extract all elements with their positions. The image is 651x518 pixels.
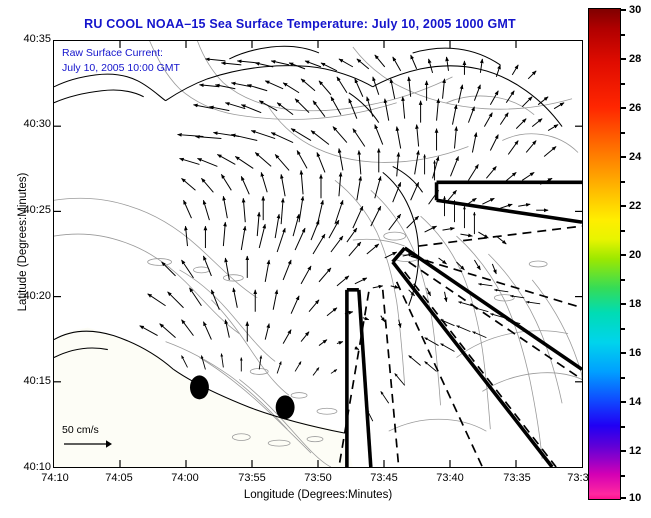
surface-current-vectors <box>140 55 564 421</box>
vector-scale-label: 50 cm/s <box>62 424 114 436</box>
cbar-tick-12: 12 <box>621 445 641 457</box>
map-plot-area[interactable]: Raw Surface Current: July 10, 2005 10:00… <box>53 40 583 468</box>
y-axis-label: Latitude (Degrees:Minutes) <box>17 157 29 327</box>
cbar-minor-tick <box>621 34 625 36</box>
cbar-tick-10: 10 <box>621 492 641 504</box>
annotation-line-2: July 10, 2005 10:00 GMT <box>62 61 180 76</box>
ytick-0: 40:35 <box>3 33 51 45</box>
xtick-5: 73:45 <box>370 472 398 484</box>
colorbar-gradient <box>589 9 620 499</box>
cbar-tick-28: 28 <box>621 53 641 65</box>
cbar-tick-18: 18 <box>621 298 641 310</box>
x-axis-label: Longitude (Degrees:Minutes) <box>53 489 583 501</box>
xtick-4: 73:50 <box>304 472 332 484</box>
cbar-tick-24: 24 <box>621 151 641 163</box>
cbar-minor-tick <box>621 279 625 281</box>
cbar-minor-tick <box>621 181 625 183</box>
xtick-7: 73:35 <box>503 472 531 484</box>
raw-surface-current-annotation: Raw Surface Current: July 10, 2005 10:00… <box>62 46 180 76</box>
cbar-minor-tick <box>621 328 625 330</box>
vector-scale-legend: 50 cm/s <box>62 424 114 453</box>
right-arrow-icon <box>62 438 114 450</box>
cbar-minor-tick <box>621 426 625 428</box>
xtick-2: 74:00 <box>171 472 199 484</box>
xtick-8: 73:3 <box>567 472 588 484</box>
ytick-4: 40:15 <box>3 375 51 387</box>
map-canvas <box>54 41 582 467</box>
sst-current-figure: RU COOL NOAA–15 Sea Surface Temperature:… <box>0 0 651 518</box>
annotation-line-1: Raw Surface Current: <box>62 46 180 61</box>
xtick-3: 73:55 <box>238 472 266 484</box>
cbar-minor-tick <box>621 230 625 232</box>
cbar-tick-30: 30 <box>621 4 641 16</box>
xtick-6: 73:40 <box>436 472 464 484</box>
figure-title: RU COOL NOAA–15 Sea Surface Temperature:… <box>0 17 600 31</box>
colorbar[interactable] <box>588 8 621 500</box>
cbar-tick-20: 20 <box>621 249 641 261</box>
cbar-tick-16: 16 <box>621 347 641 359</box>
ytick-1: 40:30 <box>3 118 51 130</box>
cbar-minor-tick <box>621 132 625 134</box>
cbar-minor-tick <box>621 83 625 85</box>
cbar-tick-22: 22 <box>621 200 641 212</box>
cbar-tick-14: 14 <box>621 396 641 408</box>
cbar-minor-tick <box>621 377 625 379</box>
cbar-minor-tick <box>621 475 625 477</box>
cbar-tick-26: 26 <box>621 102 641 114</box>
xtick-0: 74:10 <box>41 472 69 484</box>
xtick-1: 74:05 <box>105 472 133 484</box>
